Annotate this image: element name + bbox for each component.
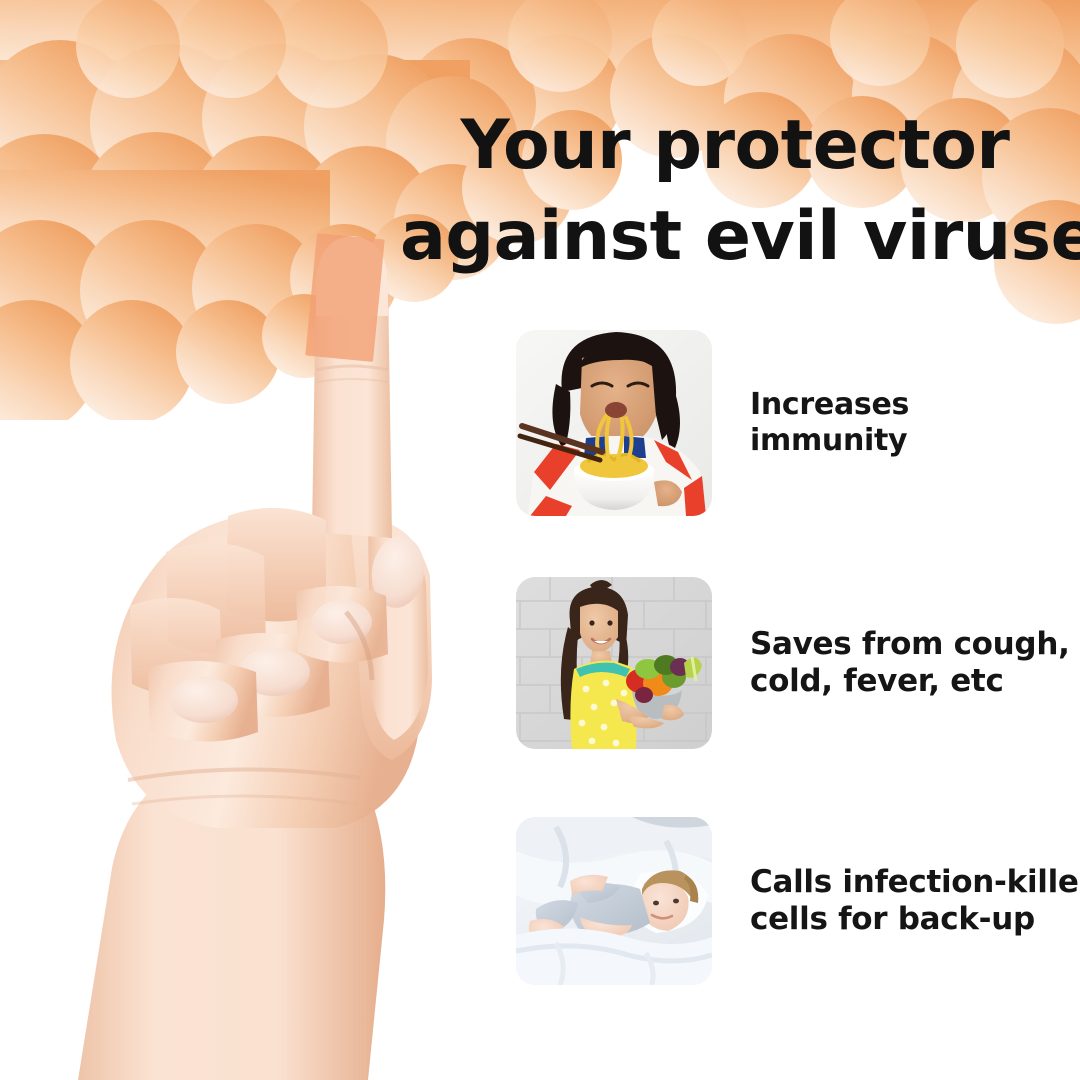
feature-label-2-line-1: Saves from cough, (750, 626, 1070, 664)
pointing-hand-photo (20, 220, 490, 1080)
feature-item-increases-immunity: Increases immunity (516, 330, 1080, 516)
feature-label-3: Calls infection-killer cells for back-up (750, 864, 1080, 939)
feature-label-2: Saves from cough, cold, fever, etc (750, 626, 1070, 701)
feature-label-1: Increases immunity (750, 387, 909, 460)
feature-label-1-line-2: immunity (750, 423, 909, 459)
sick-child-in-bed-photo (516, 817, 712, 985)
feature-label-3-line-2: cells for back-up (750, 901, 1080, 939)
headline: Your protector against evil viruses (400, 100, 1070, 282)
feature-label-2-line-2: cold, fever, etc (750, 663, 1070, 701)
poster-canvas: Your protector against evil viruses (0, 0, 1080, 1080)
feature-label-3-line-1: Calls infection-killer (750, 864, 1080, 902)
feature-item-calls-infection-killer-cells: Calls infection-killer cells for back-up (516, 817, 1080, 985)
headline-line-2: against evil viruses (400, 191, 1070, 282)
headline-line-1: Your protector (400, 100, 1070, 191)
feature-label-1-line-1: Increases (750, 387, 909, 423)
girl-holding-vegetable-bowl-photo (516, 577, 712, 749)
finger-highlight-patch (305, 233, 384, 362)
feature-item-saves-from-cough: Saves from cough, cold, fever, etc (516, 577, 1080, 749)
child-eating-noodles-photo (516, 330, 712, 516)
